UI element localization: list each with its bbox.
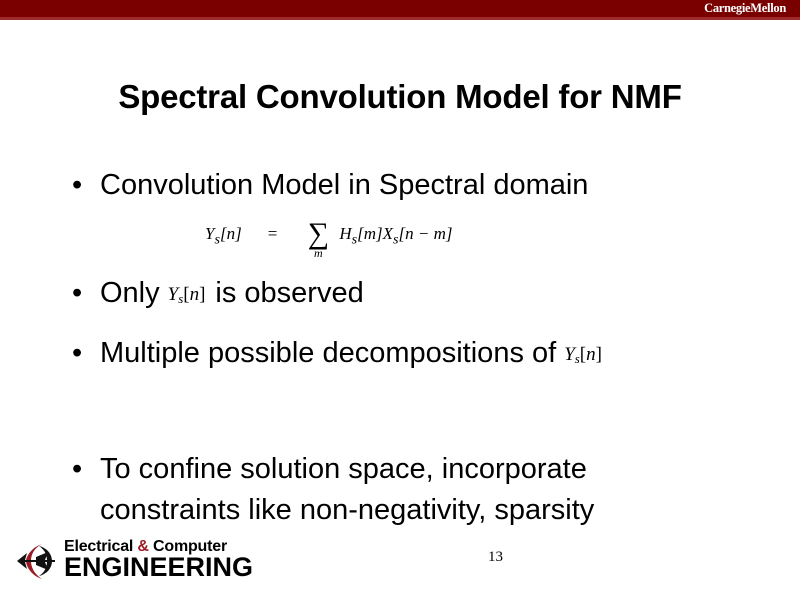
list-item-label: To confine solution space, incorporate c… — [100, 449, 768, 531]
equation-left-side: Ys[n] — [205, 219, 242, 254]
page-title: Spectral Convolution Model for NMF — [0, 78, 800, 116]
header-divider — [0, 17, 800, 20]
inline-math-ys-n: Ys[n] — [556, 344, 612, 365]
display-equation: Ys[n] = ∑ m Hs[m]Xs[n − m] — [205, 219, 453, 260]
math-index-m: [m] — [357, 224, 383, 243]
bullet-marker-icon: • — [68, 165, 100, 205]
list-item-line-2: constraints like non-negativity, sparsit… — [100, 490, 768, 531]
list-item: • Convolution Model in Spectral domain — [68, 165, 768, 205]
math-var-n: n — [190, 284, 200, 305]
math-var-x: X — [383, 224, 393, 243]
list-item-label: Multiple possible decompositions ofYs[n] — [100, 333, 768, 381]
header-bar — [0, 0, 800, 17]
bullet-marker-icon: • — [68, 449, 100, 489]
list-item-line-1: To confine solution space, incorporate — [100, 449, 768, 490]
bullet-marker-icon: • — [68, 333, 100, 373]
page-number: 13 — [488, 549, 503, 566]
list-item-text-suffix: is observed — [215, 277, 363, 309]
math-index-n-minus-m: [n − m] — [399, 224, 453, 243]
equation-equals-sign: = — [242, 219, 304, 249]
math-index-n: [n] — [220, 224, 242, 243]
ece-logo-wordmark: Electrical & Computer ENGINEERING — [64, 539, 253, 581]
slide-canvas: CarnegieMellon Spectral Convolution Mode… — [0, 0, 800, 599]
math-var-h: H — [339, 224, 351, 243]
math-var-n: n — [586, 344, 596, 365]
list-item-text-prefix: Multiple possible decompositions of — [100, 337, 556, 369]
equation-right-side: Hs[m]Xs[n − m] — [333, 219, 452, 254]
list-item-label: Convolution Model in Spectral domain — [100, 165, 768, 205]
carnegie-mellon-wordmark: CarnegieMellon — [704, 1, 786, 16]
list-item: • OnlyYs[n]is observed — [68, 273, 768, 321]
list-item: • Multiple possible decompositions ofYs[… — [68, 333, 768, 381]
bullet-marker-icon: • — [68, 273, 100, 313]
math-var-y: Y — [564, 344, 575, 365]
math-bracket-close: ] — [596, 344, 602, 365]
math-bracket-close: ] — [199, 284, 205, 305]
list-item: • To confine solution space, incorporate… — [68, 449, 768, 531]
math-var-y: Y — [168, 284, 179, 305]
summation-operator: ∑ m — [303, 219, 333, 260]
list-item-label: OnlyYs[n]is observed — [100, 273, 768, 321]
inline-math-ys-n: Ys[n] — [160, 284, 216, 305]
sigma-icon: ∑ — [303, 220, 333, 248]
list-item-text-prefix: Only — [100, 277, 160, 309]
ece-logo: Electrical & Computer ENGINEERING — [14, 536, 253, 584]
ece-logo-mark-icon — [14, 538, 58, 582]
ece-logo-line-2: ENGINEERING — [64, 554, 253, 581]
